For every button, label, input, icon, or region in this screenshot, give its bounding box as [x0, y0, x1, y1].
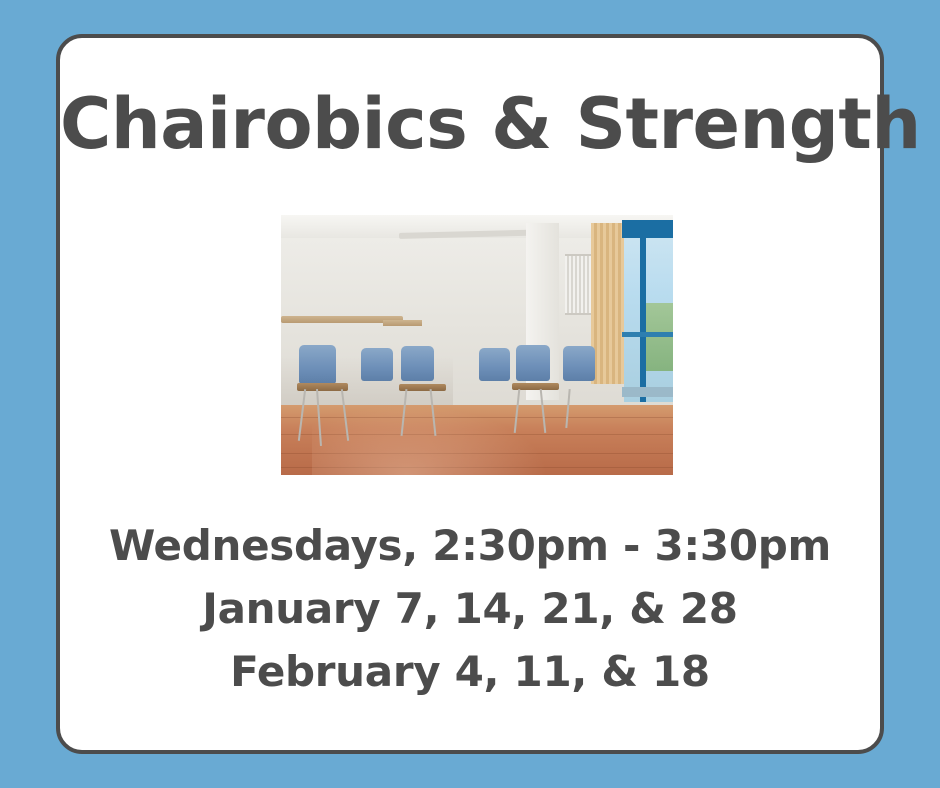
- poster-card: Chairobics & Strength: [56, 34, 884, 754]
- photo-window-sill: [622, 387, 673, 397]
- photo-chair: [563, 346, 594, 381]
- photo-ballet-barre-second: [383, 320, 422, 326]
- photo-chair: [299, 345, 336, 384]
- photo-window-mullion-horizontal: [622, 332, 673, 337]
- chair-exercise-photo: [281, 215, 673, 475]
- photo-window-mullion-vertical: [640, 220, 646, 402]
- schedule-line-january: January 7, 14, 21, & 28: [60, 577, 880, 640]
- schedule-line-february: February 4, 11, & 18: [60, 640, 880, 703]
- photo-window-foliage: [646, 303, 673, 371]
- photo-curtain: [591, 223, 626, 384]
- class-photo: [281, 215, 673, 475]
- class-schedule: Wednesdays, 2:30pm - 3:30pm January 7, 1…: [60, 514, 880, 703]
- photo-chair: [516, 345, 549, 381]
- page-title: Chairobics & Strength: [60, 88, 880, 162]
- schedule-line-time: Wednesdays, 2:30pm - 3:30pm: [60, 514, 880, 577]
- photo-chair: [361, 348, 392, 382]
- photo-chair: [401, 346, 434, 381]
- poster-canvas: Chairobics & Strength: [0, 0, 940, 788]
- photo-chair: [479, 348, 510, 382]
- photo-window-frame-top: [622, 220, 673, 238]
